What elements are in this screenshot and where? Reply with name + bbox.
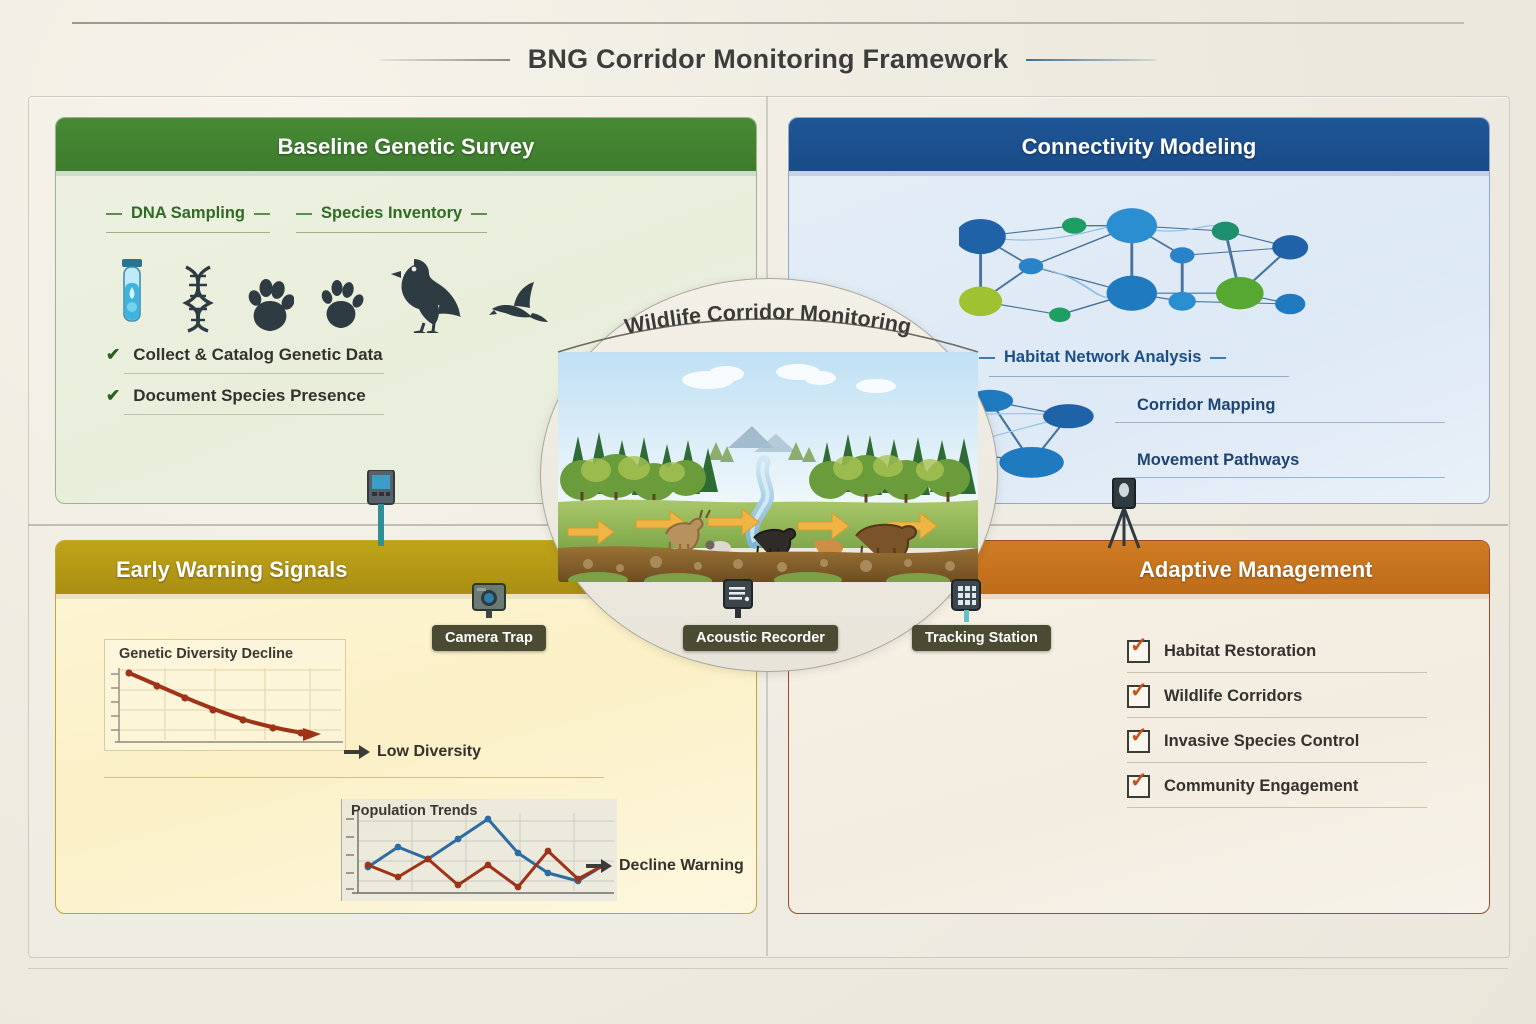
check-icon: ✔ — [106, 345, 120, 365]
dash-right-icon — [254, 213, 270, 215]
bottom-rule — [28, 968, 1508, 969]
test-tube-icon — [114, 257, 150, 333]
camera-trap-device[interactable] — [472, 580, 506, 625]
annotation-label: Decline Warning — [619, 857, 744, 875]
arrow-right-icon — [344, 745, 370, 759]
camera-trap-icon — [472, 580, 506, 620]
acoustic-recorder-icon — [722, 578, 754, 620]
chart-genetic-diversity-title: Genetic Diversity Decline — [119, 646, 293, 662]
sensor-tag-tracking-station[interactable]: Tracking Station — [912, 625, 1051, 651]
habitat-network-graph-large — [959, 196, 1319, 331]
checkbox-icon[interactable]: ✓ — [1127, 685, 1150, 708]
checkbox-underline — [1127, 762, 1427, 763]
subsection-dna-sampling-title: DNA Sampling — [106, 204, 270, 223]
link-label: Movement Pathways — [1115, 447, 1445, 470]
checkbox-wildlife-corridors[interactable]: ✓ Wildlife Corridors — [1127, 682, 1427, 708]
checkbox-icon[interactable]: ✓ — [1127, 775, 1150, 798]
chart-population-trends-title: Population Trends — [351, 803, 477, 819]
sensor-tag-camera-trap[interactable]: Camera Trap — [432, 625, 546, 651]
flying-bird-icon — [488, 281, 550, 333]
subsection-species-inventory[interactable]: Species Inventory — [296, 204, 487, 233]
tracking-station-device[interactable] — [950, 578, 982, 627]
checkbox-underline — [1127, 717, 1427, 718]
check-icon: ✔ — [106, 386, 120, 406]
title-bar: BNG Corridor Monitoring Framework — [0, 44, 1536, 75]
subsection-species-inventory-title: Species Inventory — [296, 204, 487, 223]
monitoring-post-device[interactable] — [365, 470, 397, 551]
subsection-underline — [296, 232, 487, 233]
tripod-camera-device[interactable] — [1105, 478, 1143, 555]
sensor-tag-acoustic-recorder[interactable]: Acoustic Recorder — [683, 625, 838, 651]
chart1-underline — [104, 777, 604, 778]
link-label: Corridor Mapping — [1115, 392, 1445, 415]
checkbox-underline — [1127, 672, 1427, 673]
title-rule-left — [380, 59, 510, 61]
checkbox-underline — [1127, 807, 1427, 808]
top-rule — [72, 22, 1464, 24]
dash-left-icon — [979, 357, 995, 359]
tripod-camera-icon — [1105, 478, 1143, 550]
dna-helix-icon — [176, 263, 220, 333]
panel-adaptive-body: ✓ Habitat Restoration ✓ Wildlife Corrido… — [789, 599, 1489, 913]
checkbox-habitat-restoration[interactable]: ✓ Habitat Restoration — [1127, 637, 1427, 663]
dash-right-icon — [471, 213, 487, 215]
title-rule-right — [1026, 59, 1156, 61]
landscape-svg — [558, 352, 978, 582]
check-label: Document Species Presence — [133, 386, 365, 406]
dash-right-icon — [1210, 357, 1226, 359]
checkbox-invasive-species-control[interactable]: ✓ Invasive Species Control — [1127, 727, 1427, 753]
annotation-label: Low Diversity — [377, 743, 481, 761]
subsection-label: DNA Sampling — [131, 204, 245, 223]
dash-left-icon — [296, 213, 312, 215]
connectivity-link-corridor-mapping[interactable]: Corridor Mapping — [1115, 392, 1445, 423]
paw-print-icon — [246, 271, 294, 333]
paw-print-icon — [320, 275, 364, 333]
checkbox-community-engagement[interactable]: ✓ Community Engagement — [1127, 772, 1427, 798]
baseline-subsections: DNA Sampling Species Inventory — [56, 176, 756, 233]
chart-genetic-diversity-decline[interactable]: Genetic Diversity Decline — [104, 639, 346, 751]
monitoring-post-icon — [365, 470, 397, 546]
checkbox-label: Habitat Restoration — [1164, 642, 1316, 661]
perched-bird-icon — [390, 253, 462, 333]
subsection-label: Species Inventory — [321, 204, 462, 223]
panel-baseline-header: Baseline Genetic Survey — [56, 118, 756, 176]
check-label: Collect & Catalog Genetic Data — [133, 345, 382, 365]
subsection-label: Habitat Network Analysis — [1004, 348, 1201, 367]
subsection-dna-sampling[interactable]: DNA Sampling — [106, 204, 270, 233]
annotation-low-diversity: Low Diversity — [344, 743, 481, 761]
connectivity-link-list: Corridor Mapping Movement Pathways — [1115, 392, 1445, 478]
checkbox-icon[interactable]: ✓ — [1127, 730, 1150, 753]
annotation-decline-warning: Decline Warning — [586, 857, 744, 875]
checkbox-label: Invasive Species Control — [1164, 732, 1359, 751]
tracking-station-icon — [950, 578, 982, 622]
check-underline — [124, 373, 384, 374]
subsection-underline — [989, 376, 1289, 377]
acoustic-recorder-device[interactable] — [722, 578, 754, 625]
subsection-underline — [106, 232, 270, 233]
dash-left-icon — [106, 213, 122, 215]
panel-early-warning-body: Genetic Diversity Decline Low Diversity — [56, 599, 756, 913]
connectivity-link-movement-pathways[interactable]: Movement Pathways — [1115, 447, 1445, 478]
adaptive-checkbox-list: ✓ Habitat Restoration ✓ Wildlife Corrido… — [1127, 637, 1427, 817]
arrow-right-icon — [586, 859, 612, 873]
checkbox-icon[interactable]: ✓ — [1127, 640, 1150, 663]
corridor-landscape-illustration — [558, 352, 978, 582]
page-title: BNG Corridor Monitoring Framework — [528, 44, 1009, 75]
link-underline — [1115, 477, 1445, 478]
check-underline — [124, 414, 384, 415]
connectivity-subsection-title: Habitat Network Analysis — [979, 348, 1226, 367]
panel-connectivity-header: Connectivity Modeling — [789, 118, 1489, 176]
checkbox-label: Wildlife Corridors — [1164, 687, 1302, 706]
checkbox-label: Community Engagement — [1164, 777, 1358, 796]
